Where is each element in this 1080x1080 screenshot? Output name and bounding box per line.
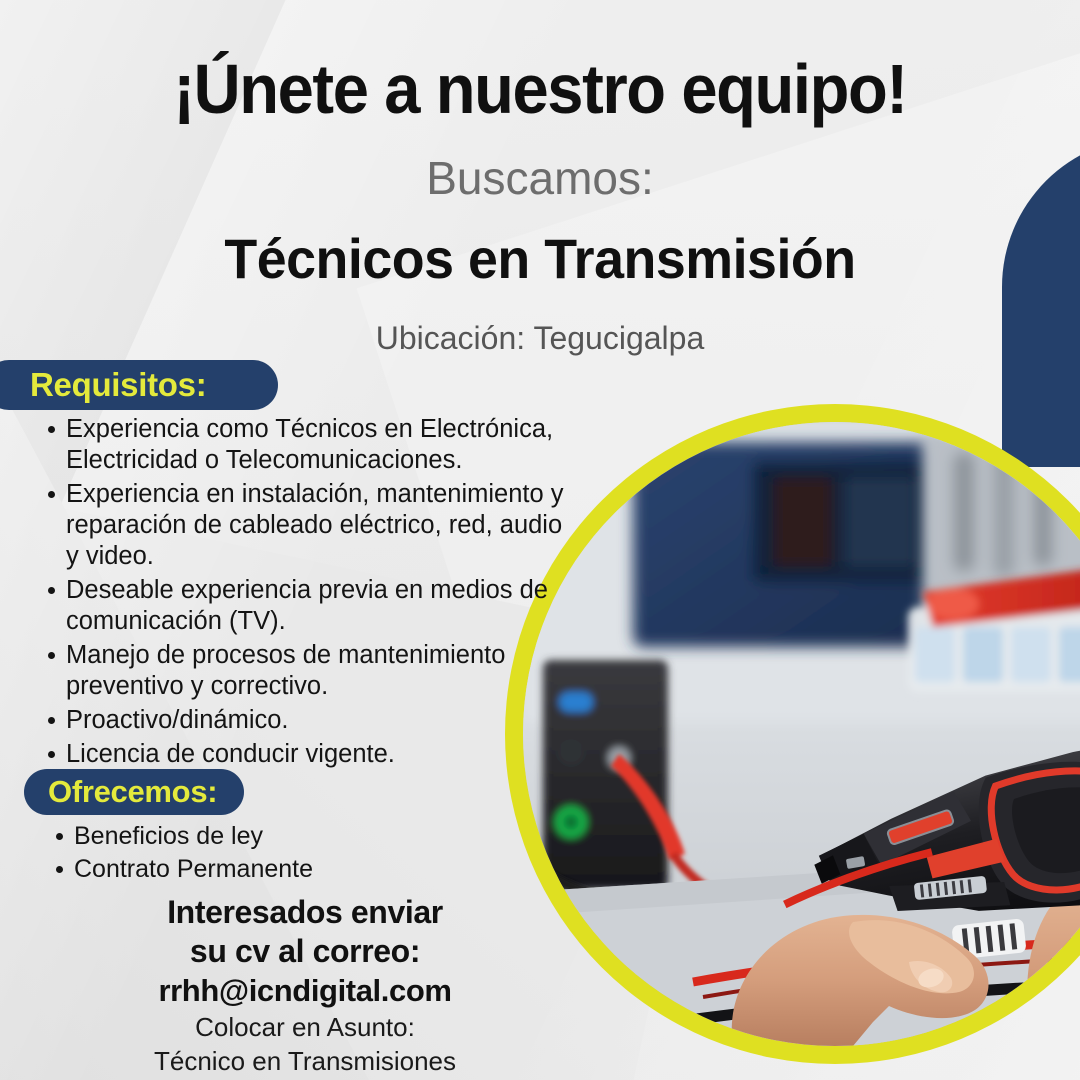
offers-badge-label: Ofrecemos:: [48, 774, 217, 810]
subheading-buscamos: Buscamos:: [0, 152, 1080, 204]
requirements-badge: Requisitos:: [0, 360, 278, 410]
requirements-badge-label: Requisitos:: [30, 366, 206, 404]
requirements-list: Experiencia como Técnicos en Electrónica…: [22, 414, 568, 789]
contact-block: Interesados enviar su cv al correo: rrhh…: [70, 893, 540, 1078]
contact-subject-label: Colocar en Asunto:: [70, 1010, 540, 1044]
list-item: Manejo de procesos de mantenimiento prev…: [48, 640, 568, 702]
contact-subject-value: Técnico en Transmisiones: [70, 1044, 540, 1078]
photo-circle: [523, 422, 1080, 1046]
list-item: Experiencia en instalación, mantenimient…: [48, 479, 568, 572]
list-item: Beneficios de ley: [56, 820, 496, 853]
contact-email[interactable]: rrhh@icndigital.com: [70, 971, 540, 1010]
wire-stripper-photo: [523, 422, 1080, 1046]
list-item: Deseable experiencia previa en medios de…: [48, 575, 568, 637]
job-location: Ubicación: Tegucigalpa: [0, 318, 1080, 358]
contact-line-2: su cv al correo:: [70, 932, 540, 971]
contact-line-1: Interesados enviar: [70, 893, 540, 932]
list-item: Experiencia como Técnicos en Electrónica…: [48, 414, 568, 476]
list-item: Proactivo/dinámico.: [48, 705, 568, 736]
list-item: Licencia de conducir vigente.: [48, 739, 568, 770]
list-item: Contrato Permanente: [56, 853, 496, 886]
page-title: ¡Únete a nuestro equipo!: [38, 52, 1042, 126]
job-role-title: Técnicos en Transmisión: [22, 228, 1059, 290]
offers-badge: Ofrecemos:: [24, 769, 244, 815]
offers-list: Beneficios de ley Contrato Permanente: [30, 820, 496, 886]
job-posting-poster: ¡Únete a nuestro equipo! Buscamos: Técni…: [0, 0, 1080, 1080]
